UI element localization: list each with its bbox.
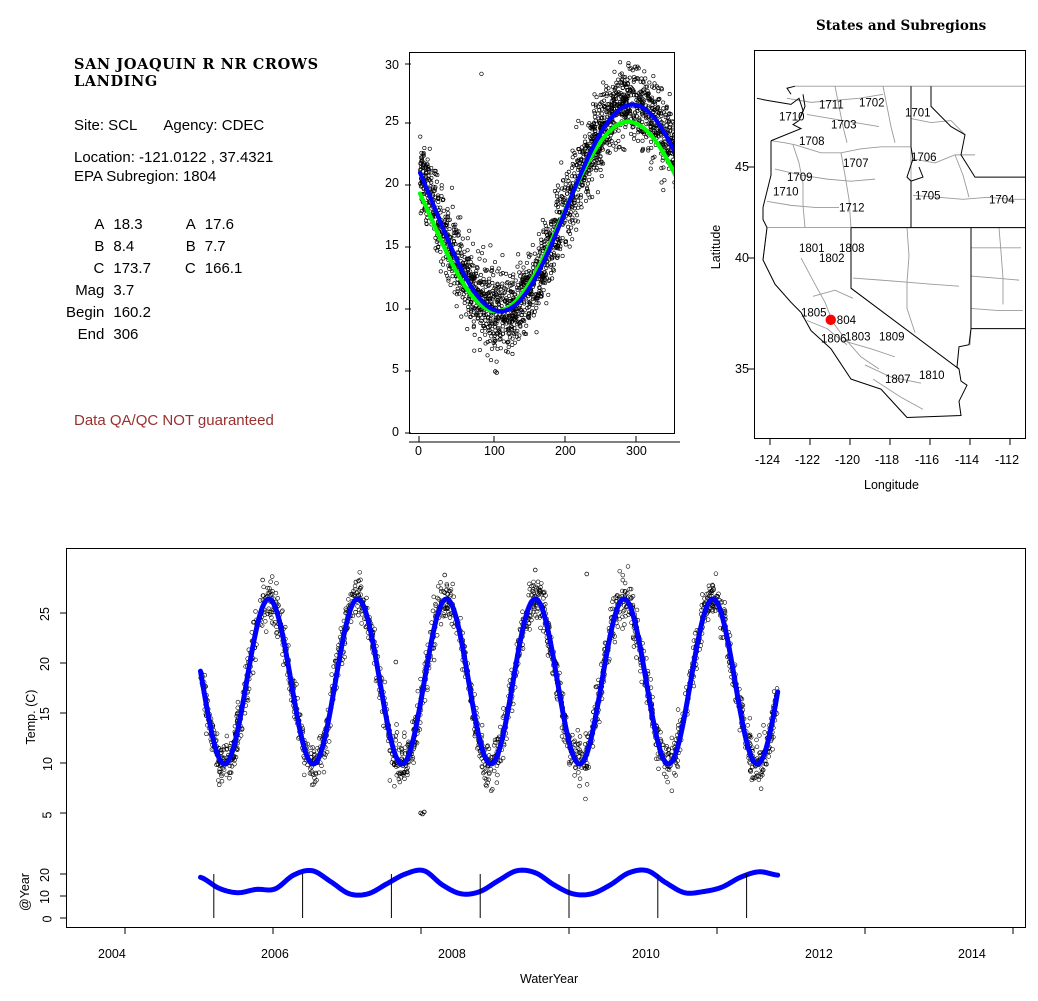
table-row: End 306 — [66, 324, 276, 346]
ts-xtick: 2008 — [438, 947, 466, 961]
svg-text:1807: 1807 — [885, 374, 911, 386]
svg-text:1710: 1710 — [773, 186, 799, 198]
param-key: C — [66, 258, 113, 280]
ts-xtick: 2012 — [805, 947, 833, 961]
param-value: 8.4 — [113, 236, 185, 258]
param-key: C — [185, 258, 205, 280]
ts-xtick: 2004 — [98, 947, 126, 961]
seasonal-cycle-plot — [409, 52, 675, 434]
param-value: 306 — [113, 324, 185, 346]
seasonal-x-axis-ticks — [400, 434, 690, 448]
ts-yaxis-label: Temp. (C) — [24, 682, 38, 752]
states-subregions-map: 1711170217011710170317081706170717091710… — [754, 50, 1026, 439]
station-title: SAN JOAQUIN R NR CROWS LANDING — [74, 56, 374, 90]
svg-text:1810: 1810 — [919, 370, 945, 382]
timeseries-plot — [66, 548, 1026, 928]
param-value: 18.3 — [113, 214, 185, 236]
ts-ytick: 5 — [40, 812, 54, 819]
svg-text:1805: 1805 — [801, 308, 827, 320]
svg-text:1710: 1710 — [779, 112, 805, 124]
map-xtick: -124 — [755, 453, 780, 467]
param-value: 173.7 — [113, 258, 185, 280]
svg-text:1704: 1704 — [989, 194, 1015, 206]
table-row: Begin 160.2 — [66, 302, 276, 324]
map-xtick: -122 — [795, 453, 820, 467]
map-yaxis-label: Latitude — [709, 217, 723, 277]
agency-label: Agency: CDEC — [163, 117, 264, 134]
svg-text:1707: 1707 — [843, 158, 869, 170]
station-epa-subregion: EPA Subregion: 1804 — [74, 168, 216, 185]
svg-text:1712: 1712 — [839, 202, 865, 214]
param-key: End — [66, 324, 113, 346]
timeseries-canvas — [67, 549, 1025, 927]
ts-ytick: 20 — [38, 657, 52, 671]
strip-yaxis-label: @Year — [18, 861, 32, 923]
seasonal-y-axis-ticks — [396, 45, 412, 445]
table-row: Mag 3.7 — [66, 280, 276, 302]
table-row: B 8.4 B 7.7 — [66, 236, 276, 258]
seasonal-plot-canvas — [410, 53, 674, 433]
param-key: Mag — [66, 280, 113, 302]
map-x-axis-ticks — [754, 439, 1028, 451]
param-value: 3.7 — [113, 280, 185, 302]
qaqc-warning: Data QA/QC NOT guaranteed — [74, 412, 274, 429]
svg-text:1709: 1709 — [787, 172, 813, 184]
ts-xaxis-label: WaterYear — [520, 972, 578, 986]
map-xtick: -118 — [875, 453, 899, 467]
ts-ytick: 15 — [38, 707, 52, 721]
map-xtick: -112 — [995, 453, 1019, 467]
svg-text:1806: 1806 — [821, 334, 847, 346]
table-row: C 173.7 C 166.1 — [66, 258, 276, 280]
svg-text:1708: 1708 — [799, 136, 825, 148]
site-label: Site: SCL — [74, 117, 137, 134]
table-row: A 18.3 A 17.6 — [66, 214, 276, 236]
ts-y-axis-ticks — [55, 548, 69, 930]
ts-ytick: 25 — [38, 607, 52, 621]
svg-text:1701: 1701 — [905, 108, 931, 120]
param-key: B — [185, 236, 205, 258]
svg-text:1703: 1703 — [831, 120, 857, 132]
svg-text:804: 804 — [837, 315, 857, 327]
svg-text:1802: 1802 — [819, 253, 845, 265]
strip-ytick: 0 — [40, 916, 54, 923]
param-key: Begin — [66, 302, 113, 324]
ts-xtick: 2010 — [632, 947, 660, 961]
map-title: States and Subregions — [816, 18, 986, 34]
svg-text:1706: 1706 — [911, 152, 937, 164]
ts-ytick: 10 — [41, 757, 55, 771]
fit-parameter-table: A 18.3 A 17.6 B 8.4 B 7.7 C 173.7 C 166.… — [66, 214, 276, 346]
map-xaxis-label: Longitude — [864, 478, 919, 492]
map-y-axis-ticks — [744, 50, 756, 440]
param-key: A — [185, 214, 205, 236]
param-key: B — [66, 236, 113, 258]
param-value: 7.7 — [205, 236, 277, 258]
station-location: Location: -121.0122 , 37.4321 — [74, 148, 273, 168]
strip-ytick: 10 — [38, 890, 52, 904]
map-canvas: 1711170217011710170317081706170717091710… — [755, 51, 1025, 438]
param-value: 160.2 — [113, 302, 185, 324]
svg-text:1702: 1702 — [859, 97, 885, 109]
ts-x-axis-ticks — [66, 928, 1028, 940]
ts-xtick: 2014 — [958, 947, 986, 961]
map-xtick: -116 — [915, 453, 939, 467]
param-key: A — [66, 214, 113, 236]
ts-xtick: 2006 — [261, 947, 289, 961]
map-xtick: -120 — [835, 453, 860, 467]
svg-text:1705: 1705 — [915, 190, 941, 202]
strip-ytick: 20 — [38, 868, 52, 882]
site-agency-line: Site: SCLAgency: CDEC — [74, 117, 264, 134]
param-value: 17.6 — [205, 214, 277, 236]
svg-text:1809: 1809 — [879, 332, 905, 344]
svg-text:1711: 1711 — [819, 99, 844, 111]
map-xtick: -114 — [955, 453, 979, 467]
param-value: 166.1 — [205, 258, 277, 280]
svg-text:1803: 1803 — [845, 332, 871, 344]
